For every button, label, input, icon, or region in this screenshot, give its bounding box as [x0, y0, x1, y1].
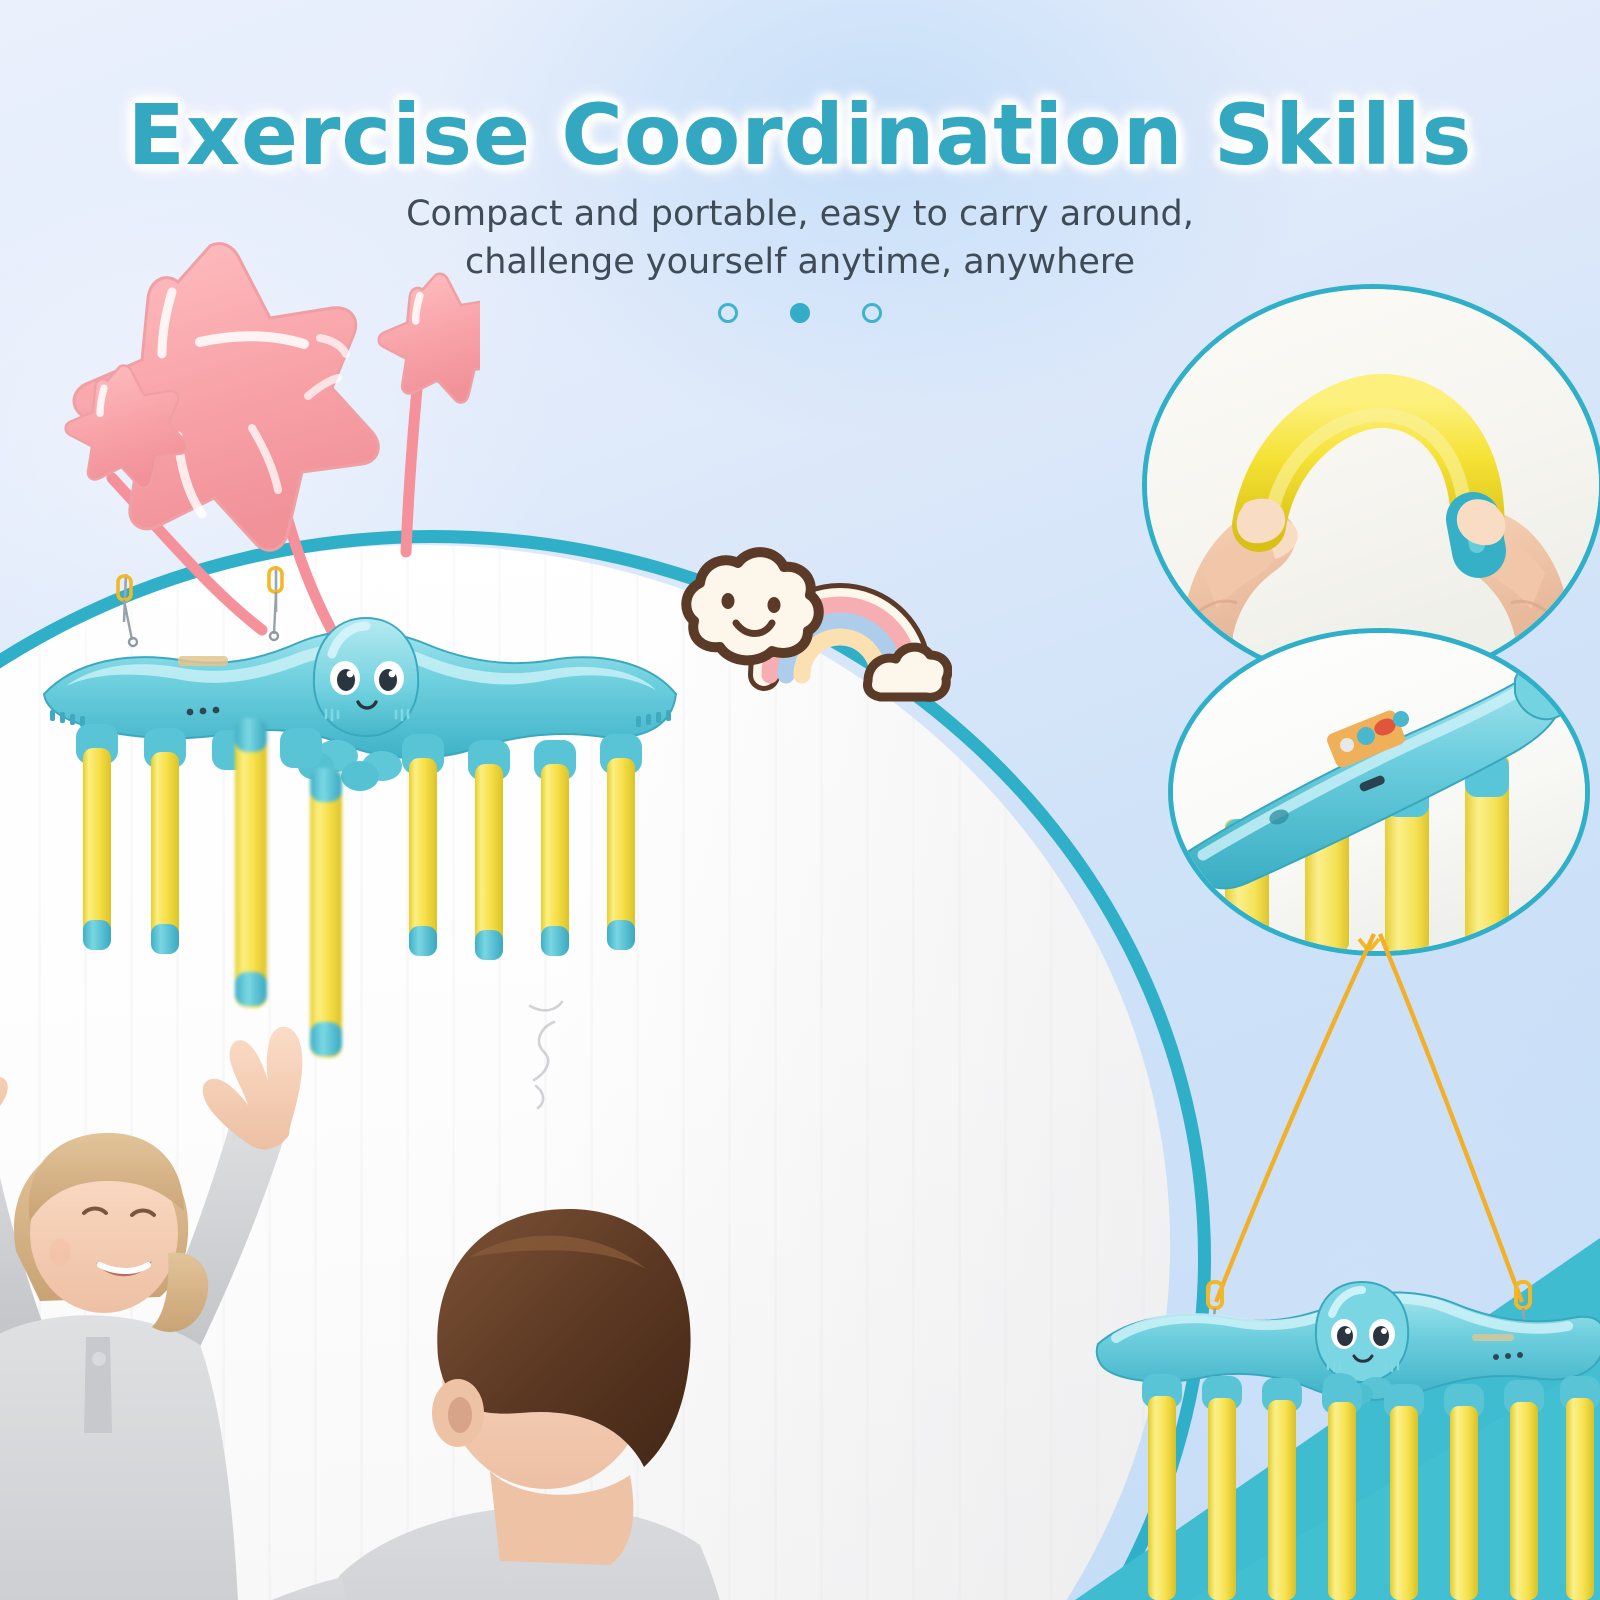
inset-flexible-stick-art [1147, 289, 1599, 681]
cloud-rainbow-icon [672, 525, 952, 705]
inset-flexible-stick[interactable] [1142, 284, 1600, 686]
inset-control-panel-art [1173, 633, 1585, 951]
carousel-dot-2-active[interactable] [790, 303, 810, 323]
page-subtitle: Compact and portable, easy to carry arou… [0, 190, 1600, 286]
falling-sticks [210, 690, 390, 1060]
hanging-cords [118, 566, 282, 646]
sticks-bottom [1148, 1396, 1594, 1600]
page-title: Exercise Coordination Skills [0, 86, 1600, 184]
falling-stick-2 [310, 768, 342, 1058]
subtitle-line-1: Compact and portable, easy to carry arou… [406, 194, 1194, 234]
inset-control-panel[interactable] [1168, 628, 1590, 956]
carousel-dot-3[interactable] [862, 303, 882, 323]
wall-scribble [500, 1000, 590, 1110]
subtitle-line-2: challenge yourself anytime, anywhere [465, 242, 1135, 282]
octopus-stick-toy-bottom [1090, 1280, 1600, 1600]
pink-flower-small-right [379, 274, 480, 403]
falling-stick-1 [235, 718, 267, 1008]
promo-banner: Exercise Coordination Skills Compact and… [0, 0, 1600, 1600]
carousel-dots[interactable] [0, 303, 1600, 323]
carousel-dot-1[interactable] [718, 303, 738, 323]
